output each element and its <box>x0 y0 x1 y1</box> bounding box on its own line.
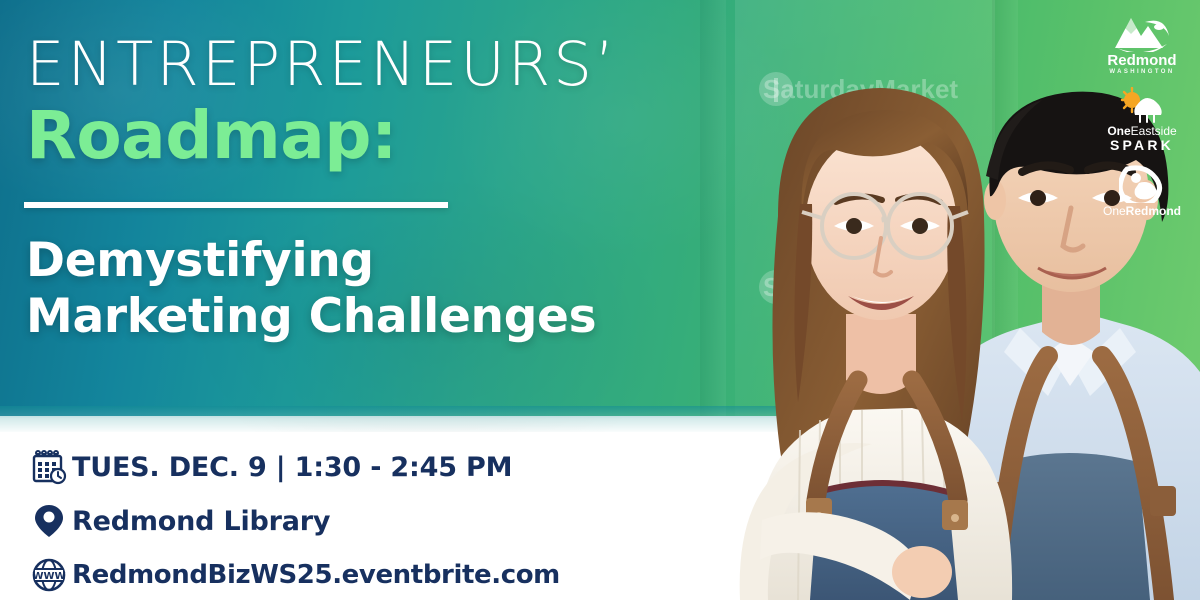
headline-block: ENTREPRENEURS’ Roadmap: <box>26 34 726 170</box>
one-redmond-logo: OneRedmond <box>1103 165 1181 218</box>
calendar-clock-icon <box>26 449 72 485</box>
spark-logo-sub: SPARK <box>1110 137 1174 153</box>
spark-sun-icon <box>1119 87 1165 123</box>
oneeastside-one: One <box>1107 124 1130 138</box>
person-swoosh-icon <box>1119 165 1165 203</box>
one-eastside-spark-logo: OneEastside SPARK <box>1107 87 1176 154</box>
mountain-icon <box>1111 14 1173 52</box>
title-divider <box>24 202 448 208</box>
partner-logos: Redmond WASHINGTON On <box>1094 14 1190 218</box>
event-banner: SaturdayMarket SaturdayMarket <box>0 0 1200 600</box>
title-accent: Roadmap: <box>26 101 726 170</box>
title-main: ENTREPRENEURS’ <box>26 34 726 95</box>
event-location-text: Redmond Library <box>72 506 330 537</box>
info-rows: TUES. DEC. 9 | 1:30 - 2:45 PM Redmond Li… <box>26 444 560 600</box>
info-row-date: TUES. DEC. 9 | 1:30 - 2:45 PM <box>26 444 560 490</box>
subtitle-line-2: Marketing Challenges <box>26 288 596 345</box>
event-website-text[interactable]: RedmondBizWS25.eventbrite.com <box>72 560 560 590</box>
svg-text:WWW: WWW <box>32 571 65 582</box>
oneredmond-logo-name: OneRedmond <box>1103 205 1181 218</box>
info-row-website[interactable]: WWW RedmondBizWS25.eventbrite.com <box>26 552 560 598</box>
info-row-location: Redmond Library <box>26 498 560 544</box>
globe-www-icon: WWW <box>26 557 72 593</box>
event-date-text: TUES. DEC. 9 | 1:30 - 2:45 PM <box>72 452 512 483</box>
redmond-washington-logo: Redmond WASHINGTON <box>1107 14 1176 75</box>
map-pin-icon <box>26 503 72 539</box>
oneeastside-rest: Eastside <box>1131 124 1177 138</box>
redmond-logo-sub: WASHINGTON <box>1109 69 1174 75</box>
oneredmond-one: One <box>1103 204 1126 218</box>
oneeastside-logo-name: OneEastside <box>1107 125 1176 138</box>
subtitle-line-1: Demystifying <box>26 232 374 289</box>
oneredmond-rest: Redmond <box>1126 204 1181 218</box>
redmond-logo-name: Redmond <box>1107 53 1176 69</box>
